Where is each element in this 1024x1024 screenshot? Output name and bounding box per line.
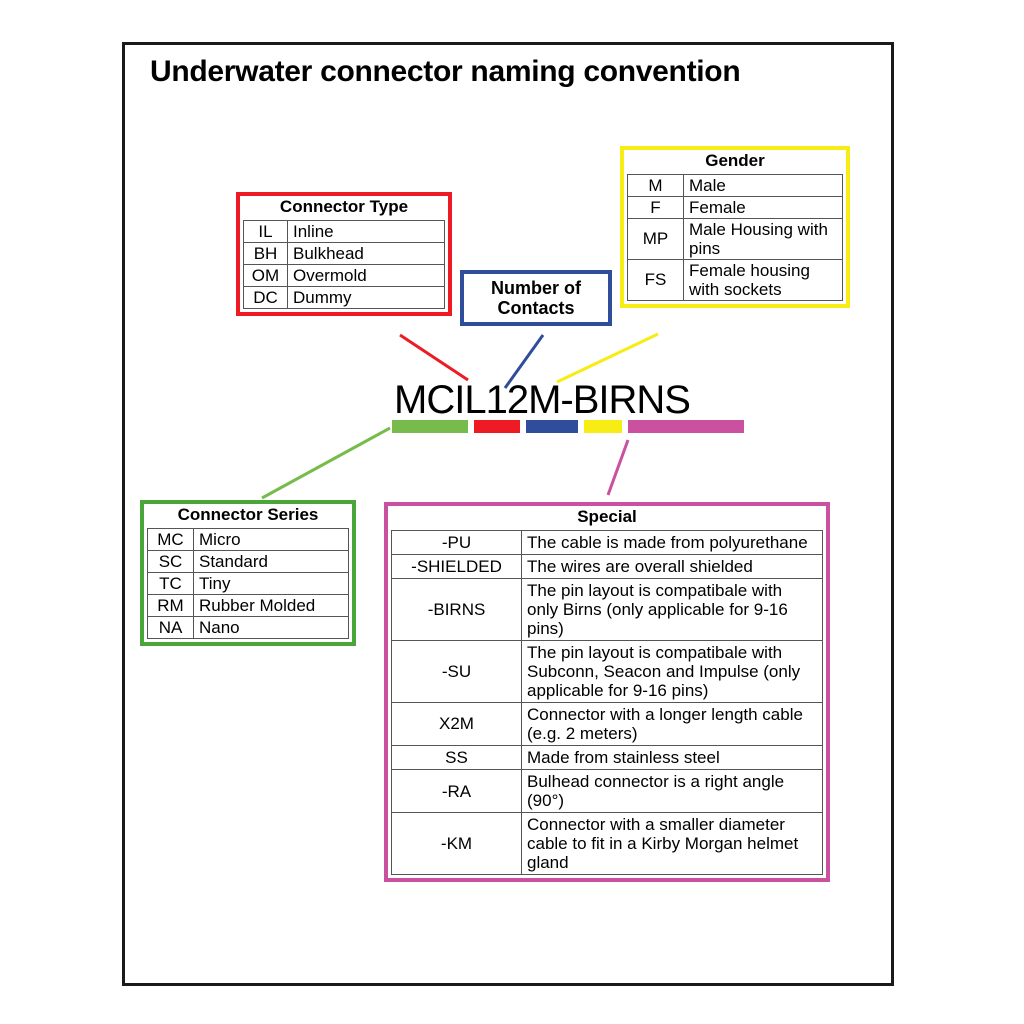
cell-key: SS — [392, 746, 522, 770]
table-row: -BIRNS The pin layout is compatibale wit… — [392, 578, 823, 640]
cell-value: Male Housing with pins — [684, 218, 843, 259]
cell-key: -KM — [392, 813, 522, 875]
cell-value: The cable is made from polyurethane — [522, 530, 823, 554]
cell-key: -PU — [392, 530, 522, 554]
table-row: -RA Bulhead connector is a right angle (… — [392, 770, 823, 813]
cell-value: Male — [684, 174, 843, 196]
cell-value: Standard — [194, 550, 349, 572]
cell-value: Rubber Molded — [194, 594, 349, 616]
cell-key: -SU — [392, 640, 522, 702]
cell-value: The pin layout is compatibale with only … — [522, 578, 823, 640]
connector-type-header: Connector Type — [240, 196, 448, 220]
cell-value: Female housing with sockets — [684, 259, 843, 300]
special-box: Special -PU The cable is made from polyu… — [384, 502, 830, 882]
cell-key: OM — [244, 264, 288, 286]
table-row: -SU The pin layout is compatibale with S… — [392, 640, 823, 702]
table-row: RM Rubber Molded — [148, 594, 349, 616]
table-row: -PU The cable is made from polyurethane — [392, 530, 823, 554]
number-of-contacts-box: Number of Contacts — [460, 270, 612, 326]
cell-value: Dummy — [288, 286, 445, 308]
table-row: NA Nano — [148, 616, 349, 638]
cell-value: The wires are overall shielded — [522, 554, 823, 578]
table-row: IL Inline — [244, 220, 445, 242]
bar-segment-gender — [584, 420, 622, 433]
page-title: Underwater connector naming convention — [150, 55, 870, 89]
cell-key: M — [628, 174, 684, 196]
special-header: Special — [388, 506, 826, 530]
table-row: MC Micro — [148, 528, 349, 550]
gender-box: Gender M Male F Female MP Male Housing w… — [620, 146, 850, 308]
bar-segment-type — [474, 420, 520, 433]
table-row: SS Made from stainless steel — [392, 746, 823, 770]
gender-header: Gender — [624, 150, 846, 174]
number-of-contacts-label: Number of Contacts — [464, 278, 608, 318]
code-color-bar — [392, 420, 744, 433]
bar-segment-series — [392, 420, 468, 433]
cell-key: TC — [148, 572, 194, 594]
cell-value: Bulkhead — [288, 242, 445, 264]
bar-segment-special — [628, 420, 744, 433]
cell-key: -RA — [392, 770, 522, 813]
cell-key: DC — [244, 286, 288, 308]
gender-table: M Male F Female MP Male Housing with pin… — [627, 174, 843, 301]
cell-key: BH — [244, 242, 288, 264]
table-row: F Female — [628, 196, 843, 218]
connector-series-table: MC Micro SC Standard TC Tiny RM Rubber M… — [147, 528, 349, 639]
cell-value: The pin layout is compatibale with Subco… — [522, 640, 823, 702]
cell-value: Micro — [194, 528, 349, 550]
table-row: MP Male Housing with pins — [628, 218, 843, 259]
cell-key: MP — [628, 218, 684, 259]
cell-value: Nano — [194, 616, 349, 638]
table-row: BH Bulkhead — [244, 242, 445, 264]
table-row: FS Female housing with sockets — [628, 259, 843, 300]
table-row: SC Standard — [148, 550, 349, 572]
cell-key: -BIRNS — [392, 578, 522, 640]
table-row: M Male — [628, 174, 843, 196]
table-row: -SHIELDED The wires are overall shielded — [392, 554, 823, 578]
table-row: -KM Connector with a smaller diameter ca… — [392, 813, 823, 875]
cell-value: Made from stainless steel — [522, 746, 823, 770]
connector-type-box: Connector Type IL Inline BH Bulkhead OM … — [236, 192, 452, 316]
cell-value: Inline — [288, 220, 445, 242]
cell-key: FS — [628, 259, 684, 300]
bar-segment-contacts — [526, 420, 578, 433]
cell-value: Connector with a smaller diameter cable … — [522, 813, 823, 875]
table-row: TC Tiny — [148, 572, 349, 594]
cell-key: SC — [148, 550, 194, 572]
cell-key: RM — [148, 594, 194, 616]
special-table: -PU The cable is made from polyurethane … — [391, 530, 823, 876]
table-row: X2M Connector with a longer length cable… — [392, 702, 823, 745]
connector-series-box: Connector Series MC Micro SC Standard TC… — [140, 500, 356, 646]
cell-value: Female — [684, 196, 843, 218]
connector-type-table: IL Inline BH Bulkhead OM Overmold DC Dum… — [243, 220, 445, 309]
cell-value: Tiny — [194, 572, 349, 594]
cell-key: IL — [244, 220, 288, 242]
cell-value: Connector with a longer length cable (e.… — [522, 702, 823, 745]
cell-value: Bulhead connector is a right angle (90°) — [522, 770, 823, 813]
cell-value: Overmold — [288, 264, 445, 286]
cell-key: -SHIELDED — [392, 554, 522, 578]
cell-key: X2M — [392, 702, 522, 745]
connector-series-header: Connector Series — [144, 504, 352, 528]
cell-key: NA — [148, 616, 194, 638]
example-code: MCIL12M-BIRNS — [392, 378, 692, 423]
diagram-canvas: Underwater connector naming convention C… — [0, 0, 1024, 1024]
table-row: DC Dummy — [244, 286, 445, 308]
cell-key: F — [628, 196, 684, 218]
table-row: OM Overmold — [244, 264, 445, 286]
cell-key: MC — [148, 528, 194, 550]
